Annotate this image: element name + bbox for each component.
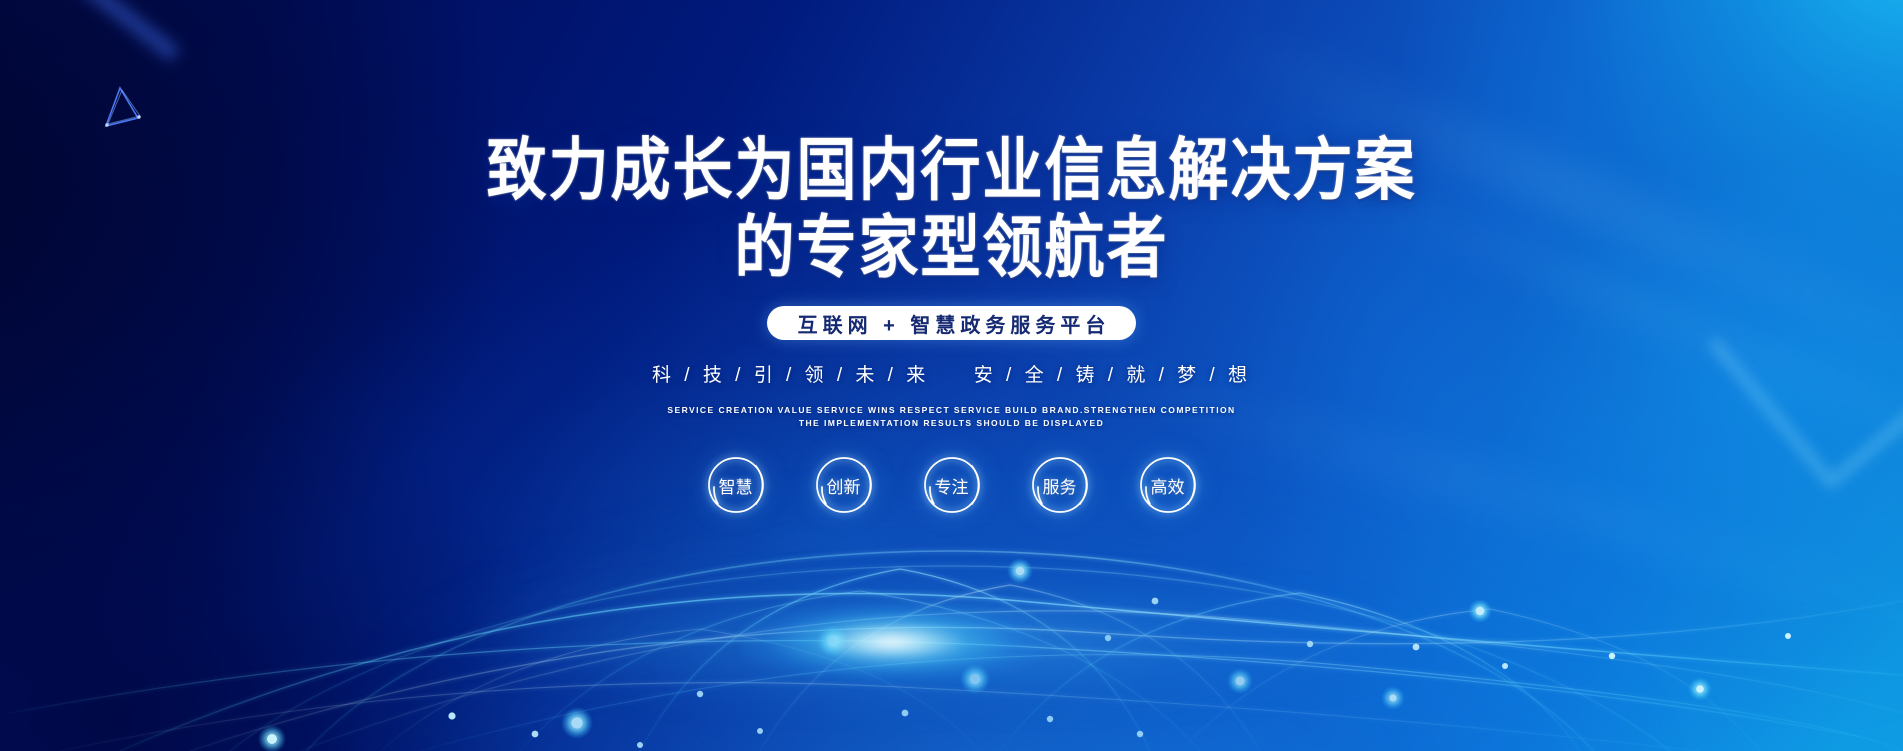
value-badge-zhihui[interactable]: 智慧 bbox=[707, 456, 765, 514]
value-badge-fuwu[interactable]: 服务 bbox=[1031, 456, 1089, 514]
slogan-right: 安 / 全 / 铸 / 就 / 梦 / 想 bbox=[974, 365, 1251, 386]
slogan-left: 科 / 技 / 引 / 领 / 未 / 来 bbox=[652, 365, 929, 386]
value-badge-label: 智慧 bbox=[719, 473, 753, 498]
english-tagline: SERVICE CREATION VALUE SERVICE WINS RESP… bbox=[667, 404, 1235, 430]
banner-content: 致力成长为国内行业信息解决方案 的专家型领航者 互联网 + 智慧政务服务平台 科… bbox=[0, 0, 1903, 751]
page-title: 致力成长为国内行业信息解决方案 的专家型领航者 bbox=[487, 132, 1417, 287]
promo-banner: 致力成长为国内行业信息解决方案 的专家型领航者 互联网 + 智慧政务服务平台 科… bbox=[0, 0, 1903, 751]
english-line-2: THE IMPLEMENTATION RESULTS SHOULD BE DIS… bbox=[667, 417, 1235, 430]
value-badge-zhuanzhu[interactable]: 专注 bbox=[923, 456, 981, 514]
value-badge-chuangxin[interactable]: 创新 bbox=[815, 456, 873, 514]
value-badge-label: 创新 bbox=[827, 473, 861, 498]
headline-line-2: 的专家型领航者 bbox=[487, 210, 1417, 288]
value-badge-label: 服务 bbox=[1043, 473, 1077, 498]
headline-line-1: 致力成长为国内行业信息解决方案 bbox=[487, 132, 1417, 210]
value-badge-label: 专注 bbox=[935, 473, 969, 498]
value-badge-label: 高效 bbox=[1151, 473, 1185, 498]
platform-pill-badge: 互联网 + 智慧政务服务平台 bbox=[767, 306, 1137, 340]
english-line-1: SERVICE CREATION VALUE SERVICE WINS RESP… bbox=[667, 404, 1235, 417]
value-badges: 智慧 创新 专注 bbox=[707, 456, 1197, 514]
value-badge-gaoxiao[interactable]: 高效 bbox=[1139, 456, 1197, 514]
slogan-subtitle: 科 / 技 / 引 / 领 / 未 / 来 安 / 全 / 铸 / 就 / 梦 … bbox=[652, 360, 1251, 387]
